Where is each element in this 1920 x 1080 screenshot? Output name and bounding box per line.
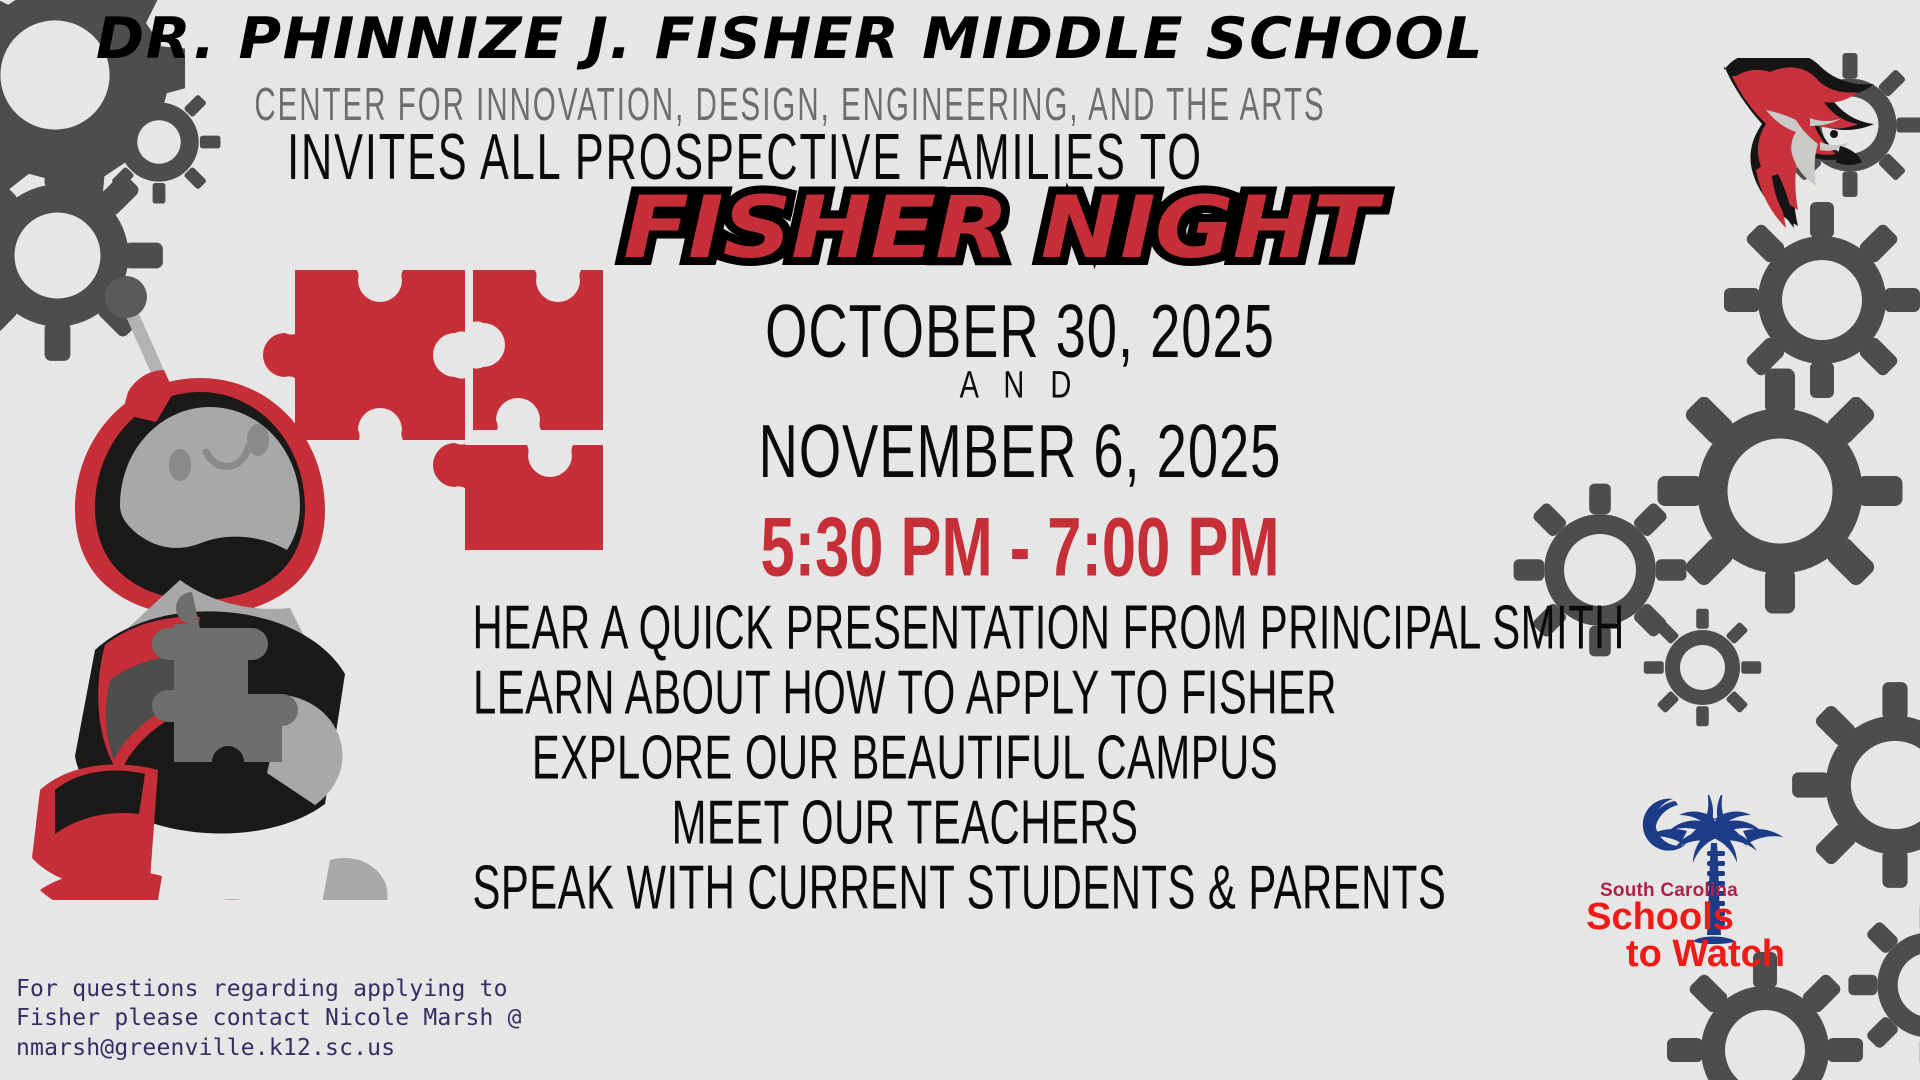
schools-to-watch-line1: Schools (1585, 898, 1735, 936)
fisher-night-wordmark: FISHER NIGHT FISHER NIGHT (600, 185, 1400, 280)
contact-line-1: For questions regarding applying to (16, 975, 576, 1004)
gear-icon (1640, 605, 1765, 730)
event-date-conjunction: A N D (700, 365, 1340, 408)
agenda-item: SPEAK WITH CURRENT STUDENTS & PARENTS (473, 856, 1338, 918)
schools-to-watch-line2: to Watch (1613, 935, 1798, 973)
schools-to-watch-logo: South Carolina Schools to Watch (1585, 795, 1815, 970)
puzzle-pieces-icon (255, 245, 605, 555)
contact-line-2: Fisher please contact Nicole Marsh @ (16, 1004, 576, 1033)
event-date-two: NOVEMBER 6, 2025 (710, 412, 1331, 489)
gear-icon (1655, 366, 1905, 616)
gear-icon (1845, 900, 1920, 1070)
school-name: DR. PHINNIZE J. FISHER MIDDLE SCHOOL (81, 10, 1499, 70)
falcon-mascot-icon (1702, 58, 1892, 238)
agenda-item: EXPLORE OUR BEAUTIFUL CAMPUS (473, 726, 1338, 788)
event-dates-block: OCTOBER 30, 2025 A N D NOVEMBER 6, 2025 … (700, 292, 1340, 573)
fisher-night-poster: DR. PHINNIZE J. FISHER MIDDLE SCHOOL CEN… (0, 0, 1920, 1080)
contact-block: For questions regarding applying to Fish… (16, 975, 576, 1063)
agenda-item: LEARN ABOUT HOW TO APPLY TO FISHER (473, 661, 1338, 723)
agenda-list: HEAR A QUICK PRESENTATION FROM PRINCIPAL… (440, 596, 1370, 921)
agenda-item: MEET OUR TEACHERS (473, 791, 1338, 853)
event-date-one: OCTOBER 30, 2025 (710, 292, 1331, 369)
fisher-night-fill: FISHER NIGHT (552, 185, 1448, 271)
event-time: 5:30 PM - 7:00 PM (713, 499, 1327, 595)
contact-email[interactable]: nmarsh@greenville.k12.sc.us (16, 1034, 576, 1063)
agenda-item: HEAR A QUICK PRESENTATION FROM PRINCIPAL… (473, 596, 1338, 658)
